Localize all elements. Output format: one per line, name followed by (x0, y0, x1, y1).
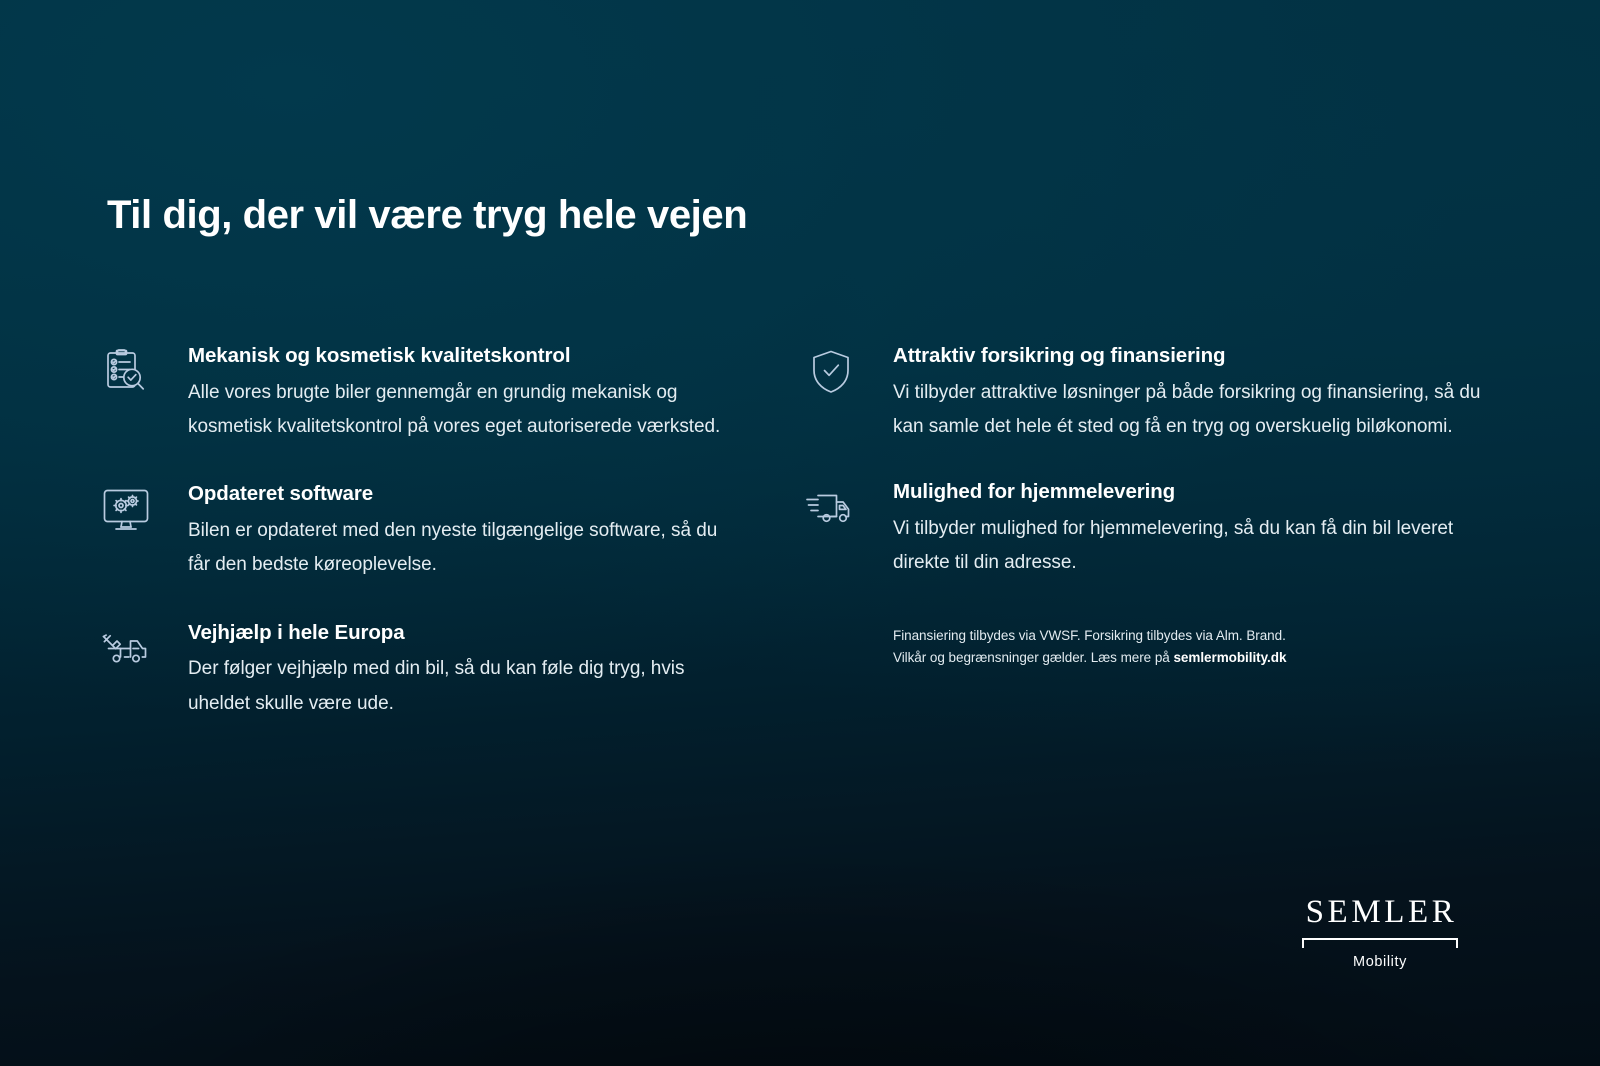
feature-insurance-financing: Attraktiv forsikring og finansiering Vi … (803, 344, 1483, 444)
feature-home-delivery: Mulighed for hjemmelevering Vi tilbyder … (803, 480, 1483, 580)
disclaimer: Finansiering tilbydes via VWSF. Forsikri… (803, 625, 1483, 669)
logo-rule-tick-right (1456, 938, 1458, 948)
feature-text: Vi tilbyder attraktive løsninger på både… (893, 376, 1483, 445)
feature-body: Mekanisk og kosmetisk kvalitetskontrol A… (154, 344, 738, 444)
disclaimer-link[interactable]: semlermobility.dk (1173, 650, 1286, 665)
features-column-left: Mekanisk og kosmetisk kvalitetskontrol A… (98, 344, 738, 759)
feature-text: Bilen er opdateret med den nyeste tilgæn… (188, 514, 738, 583)
feature-quality-control: Mekanisk og kosmetisk kvalitetskontrol A… (98, 344, 738, 444)
shield-check-icon (803, 346, 859, 402)
feature-text: Der følger vejhjælp med din bil, så du k… (188, 652, 738, 721)
disclaimer-line-1: Finansiering tilbydes via VWSF. Forsikri… (893, 625, 1483, 647)
feature-text: Vi tilbyder mulighed for hjemmelevering,… (893, 512, 1483, 581)
disclaimer-line-2: Vilkår og begrænsninger gælder. Læs mere… (893, 647, 1483, 669)
feature-title: Opdateret software (188, 482, 738, 507)
logo-subtitle: Mobility (1302, 954, 1458, 970)
tow-truck-icon (98, 623, 154, 679)
feature-title: Mekanisk og kosmetisk kvalitetskontrol (188, 344, 738, 369)
page-title: Til dig, der vil være tryg hele vejen (107, 193, 747, 238)
disclaimer-line-2-text: Vilkår og begrænsninger gælder. Læs mere… (893, 650, 1173, 665)
feature-body: Mulighed for hjemmelevering Vi tilbyder … (859, 480, 1483, 580)
feature-roadside-assistance: Vejhjælp i hele Europa Der følger vejhjæ… (98, 621, 738, 721)
semler-mobility-logo: SEMLER Mobility (1302, 896, 1458, 970)
feature-body: Attraktiv forsikring og finansiering Vi … (859, 344, 1483, 444)
feature-body: Vejhjælp i hele Europa Der følger vejhjæ… (154, 621, 738, 721)
clipboard-check-magnifier-icon (98, 346, 154, 402)
promo-panel: Til dig, der vil være tryg hele vejen (0, 0, 1600, 1066)
logo-wordmark: SEMLER (1302, 896, 1458, 929)
logo-rule (1302, 938, 1458, 948)
feature-title: Attraktiv forsikring og finansiering (893, 344, 1483, 369)
logo-rule-tick-left (1302, 938, 1304, 948)
monitor-gears-icon (98, 484, 154, 540)
features-column-right: Attraktiv forsikring og finansiering Vi … (803, 344, 1483, 668)
feature-title: Mulighed for hjemmelevering (893, 480, 1483, 505)
feature-updated-software: Opdateret software Bilen er opdateret me… (98, 482, 738, 582)
feature-text: Alle vores brugte biler gennemgår en gru… (188, 376, 738, 445)
logo-rule-bar (1302, 938, 1458, 940)
feature-body: Opdateret software Bilen er opdateret me… (154, 482, 738, 582)
feature-title: Vejhjælp i hele Europa (188, 621, 738, 646)
delivery-truck-icon (803, 482, 859, 538)
